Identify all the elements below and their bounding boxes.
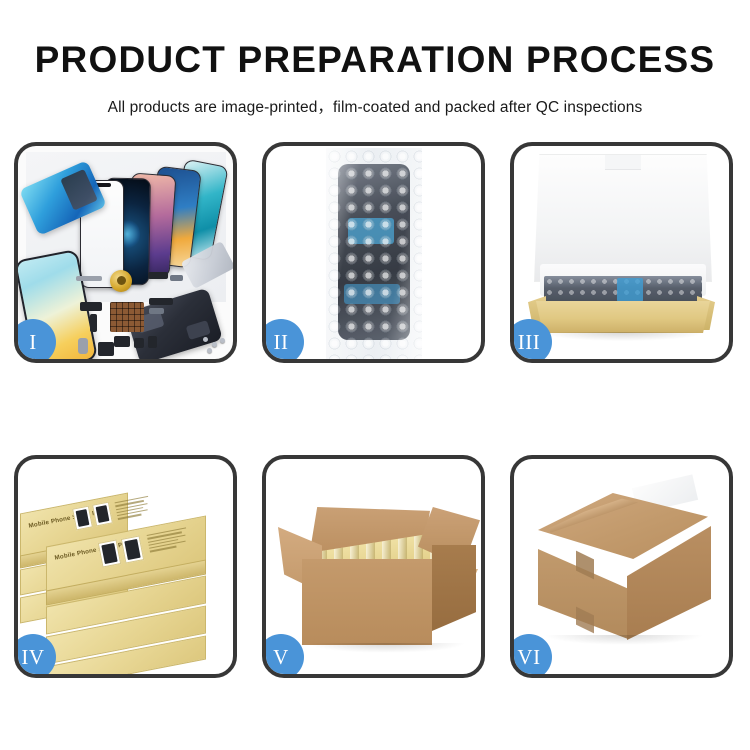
flex-cable-part-a — [148, 272, 168, 279]
retail-box-front-4 — [46, 651, 206, 674]
flex-cable-part-c — [80, 302, 102, 311]
product-preparation-infographic: PRODUCT PREPARATION PROCESS All products… — [0, 0, 750, 750]
step-badge-6: VI — [510, 634, 552, 678]
flex-cable-part-f — [149, 308, 164, 314]
step-badge-5: V — [262, 634, 304, 678]
drop-shadow — [544, 635, 704, 645]
step-panel-5: V — [262, 455, 485, 678]
flex-cable-part-d — [90, 314, 97, 332]
header: PRODUCT PREPARATION PROCESS All products… — [0, 0, 750, 117]
drop-shadow — [542, 332, 704, 341]
screw-icon-1 — [203, 337, 208, 342]
chip-array-part — [110, 302, 144, 332]
copper-coil-part — [110, 270, 132, 292]
step-badge-1: I — [14, 319, 56, 363]
screws-group — [203, 337, 227, 355]
step-badge-2: II — [262, 319, 304, 363]
step-panel-3: III — [510, 142, 733, 363]
connector-strip-part — [76, 276, 102, 281]
carton-body-side — [432, 545, 476, 631]
flex-cable-part-e — [149, 298, 173, 305]
step-panel-1: I — [14, 142, 237, 363]
carton-body-front — [302, 559, 432, 645]
step-panel-6: VI — [510, 455, 733, 678]
step-panel-2: II — [262, 142, 485, 363]
sim-tray-part — [78, 338, 88, 354]
flex-cable-part-b — [170, 275, 183, 281]
step-badge-4: IV — [14, 634, 56, 678]
bubble-wrap-bag — [326, 148, 422, 359]
drop-shadow — [306, 643, 466, 653]
screw-icon-3 — [220, 338, 225, 343]
vibrator-part — [148, 336, 157, 348]
page-title: PRODUCT PREPARATION PROCESS — [0, 41, 750, 78]
step-panel-4: Mobile Phone Spare Parts — [14, 455, 237, 678]
step-badge-3: III — [510, 319, 552, 363]
button-module-part — [98, 342, 114, 356]
camera-module-part — [114, 336, 130, 347]
mailer-box-lid — [534, 154, 712, 282]
page-subtitle: All products are image-printed，film-coat… — [0, 95, 750, 117]
process-step-grid: I II III — [14, 142, 736, 678]
screw-icon-4 — [207, 348, 212, 353]
speaker-part — [134, 338, 144, 348]
plastic-sheen — [326, 148, 422, 359]
screw-icon-2 — [212, 342, 217, 347]
mailer-box-front — [536, 301, 710, 333]
